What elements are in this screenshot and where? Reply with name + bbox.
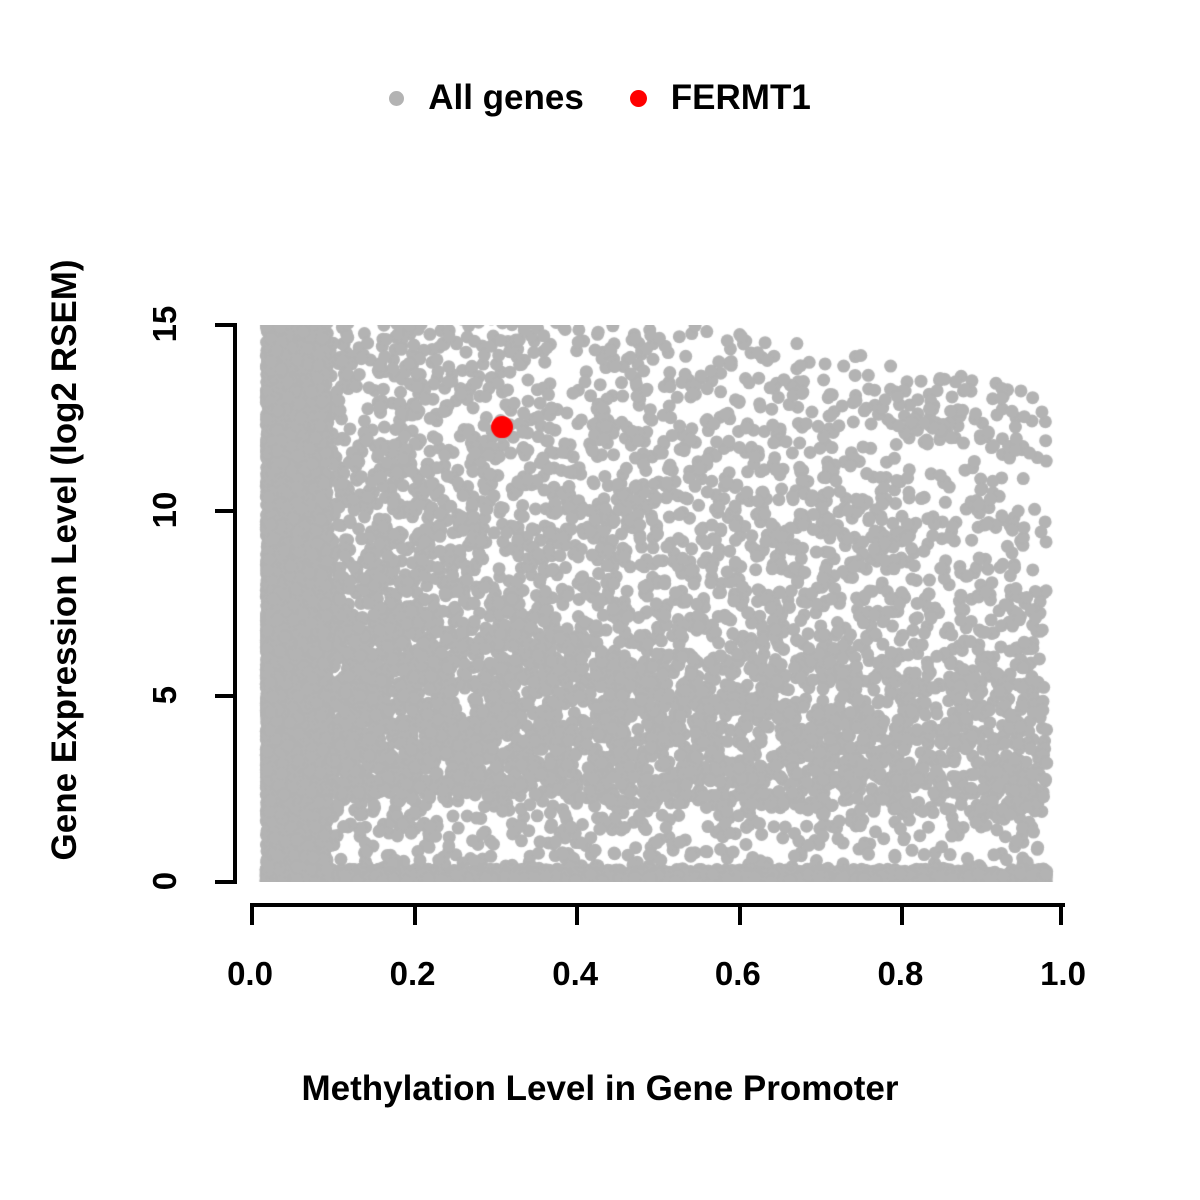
legend-label-all-genes: All genes — [428, 78, 584, 118]
x-axis-line — [250, 903, 1065, 907]
y-axis-title-wrap: Gene Expression Level (log2 RSEM) — [45, 110, 85, 1010]
x-tick-mark — [738, 903, 742, 925]
legend-marker-fermt1-icon — [630, 90, 647, 107]
y-tick-label: 5 — [146, 655, 184, 735]
fermt1-highlight-point — [250, 325, 1063, 882]
y-tick-label: 15 — [146, 284, 184, 364]
plot-area — [250, 325, 1063, 882]
y-tick-mark — [215, 694, 237, 698]
y-axis-title: Gene Expression Level (log2 RSEM) — [45, 260, 84, 861]
legend-entry-fermt1: FERMT1 — [630, 78, 811, 118]
x-tick-label: 0.2 — [353, 955, 473, 993]
x-tick-mark — [250, 903, 254, 925]
x-tick-label: 0.0 — [190, 955, 310, 993]
x-tick-label: 0.6 — [678, 955, 798, 993]
legend-entry-all-genes: All genes — [389, 78, 584, 118]
y-tick-mark — [215, 509, 237, 513]
legend-marker-all-genes-icon — [389, 91, 404, 106]
scatter-plot-figure: All genes FERMT1 Gene Expression Level (… — [0, 0, 1200, 1200]
x-tick-mark — [413, 903, 417, 925]
y-tick-label: 0 — [146, 841, 184, 921]
x-tick-mark — [1059, 903, 1063, 925]
y-tick-mark — [215, 323, 237, 327]
x-tick-label: 0.4 — [515, 955, 635, 993]
y-axis-line — [233, 325, 237, 883]
y-tick-mark — [215, 880, 237, 884]
x-axis-title: Methylation Level in Gene Promoter — [0, 1069, 1200, 1109]
legend-label-fermt1: FERMT1 — [671, 78, 811, 118]
y-tick-label: 10 — [146, 470, 184, 550]
x-tick-mark — [575, 903, 579, 925]
x-tick-label: 0.8 — [840, 955, 960, 993]
x-tick-mark — [900, 903, 904, 925]
chart-legend: All genes FERMT1 — [0, 78, 1200, 118]
x-tick-label: 1.0 — [1003, 955, 1123, 993]
